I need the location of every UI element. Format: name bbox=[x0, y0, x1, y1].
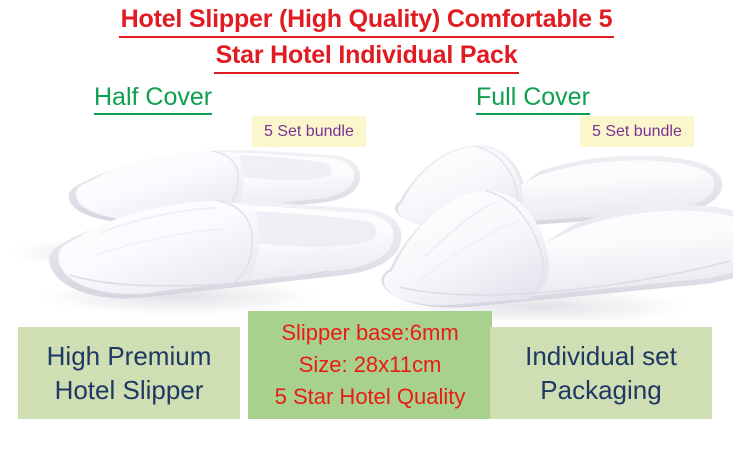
slipper-product-photo bbox=[0, 125, 733, 320]
panel-left-line-1: High Premium bbox=[47, 339, 212, 373]
title-line-1: Hotel Slipper (High Quality) Comfortable… bbox=[119, 3, 615, 38]
spec-quality: 5 Star Hotel Quality bbox=[275, 381, 466, 413]
page-title: Hotel Slipper (High Quality) Comfortable… bbox=[0, 3, 733, 74]
spec-size: Size: 28x11cm bbox=[299, 349, 442, 381]
panel-left-line-2: Hotel Slipper bbox=[55, 373, 204, 407]
full-cover-text: Full Cover bbox=[476, 83, 590, 115]
product-banner: Hotel Slipper (High Quality) Comfortable… bbox=[0, 0, 733, 461]
half-cover-text: Half Cover bbox=[94, 83, 212, 115]
spec-base-thickness: Slipper base:6mm bbox=[281, 317, 458, 349]
info-panel-right: Individual set Packaging bbox=[490, 327, 712, 419]
section-label-full-cover: Full Cover bbox=[476, 83, 590, 115]
info-panel-left: High Premium Hotel Slipper bbox=[18, 327, 240, 419]
section-label-half-cover: Half Cover bbox=[94, 83, 212, 115]
panel-right-line-1: Individual set bbox=[525, 339, 677, 373]
info-panel-specs: Slipper base:6mm Size: 28x11cm 5 Star Ho… bbox=[248, 311, 492, 419]
panel-right-line-2: Packaging bbox=[540, 373, 661, 407]
title-line-2: Star Hotel Individual Pack bbox=[214, 39, 520, 74]
